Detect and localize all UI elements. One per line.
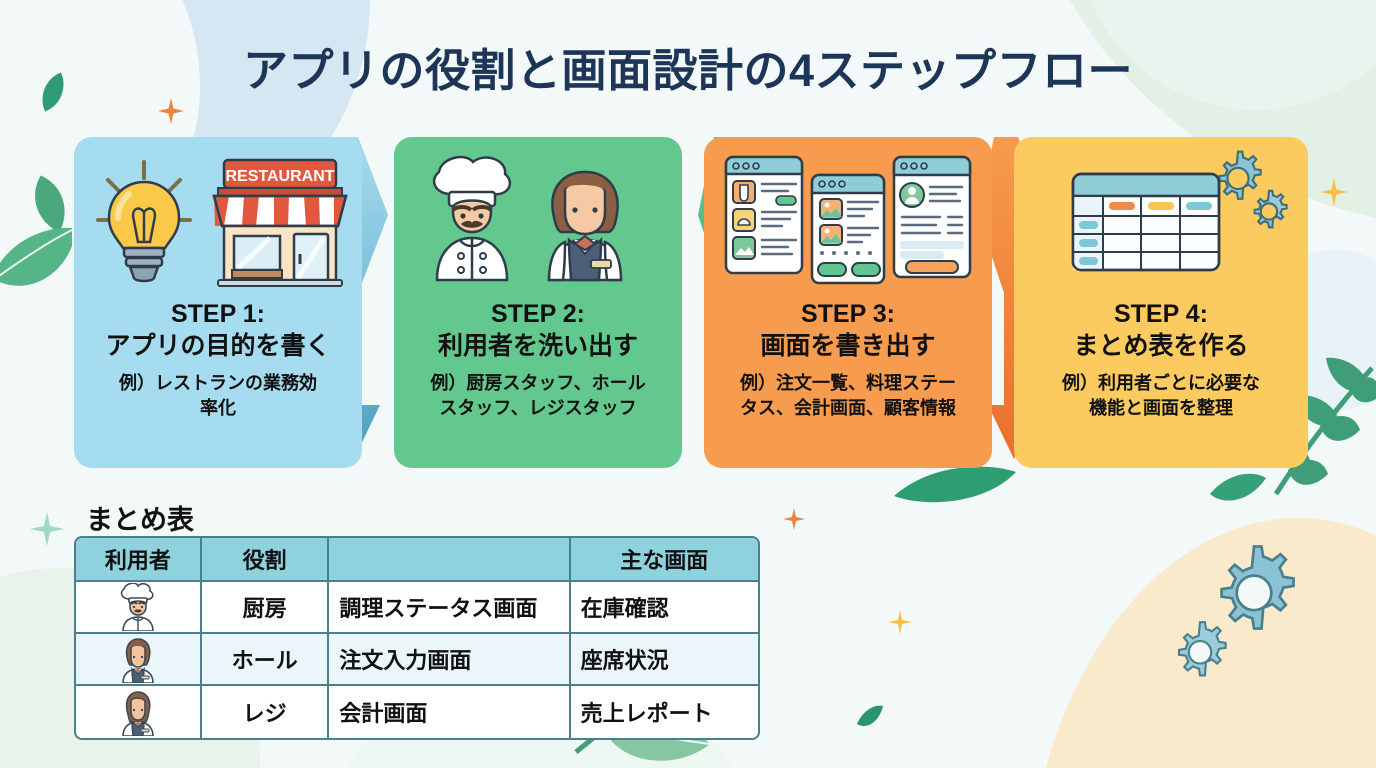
step-4-heading: STEP 4: bbox=[1020, 299, 1302, 329]
table-cell-avatar bbox=[76, 582, 202, 634]
table-cell-function: 注文入力画面 bbox=[329, 634, 570, 686]
summary-table-body: 厨房 調理ステータス画面 在庫確認 bbox=[76, 582, 758, 738]
step-2-title: 利用者を洗い出す bbox=[400, 331, 676, 362]
table-cell-screen: 在庫確認 bbox=[571, 582, 758, 634]
wireframe-screen-right bbox=[894, 157, 970, 277]
step-2-heading: STEP 2: bbox=[400, 299, 676, 329]
step-3-example: 例）注文一覧、料理ステー タス、会計画面、顧客情報 bbox=[710, 371, 986, 420]
step-4-text: STEP 4: まとめ表を作る 例）利用者ごとに必要な 機能と画面を整理 bbox=[1020, 299, 1302, 420]
step-2-example: 例）厨房スタッフ、ホール スタッフ、レジスタッフ bbox=[400, 371, 676, 420]
table-header-user: 利用者 bbox=[76, 538, 202, 582]
leaf-icon bbox=[855, 702, 885, 737]
table-row[interactable]: レジ 会計画面 売上レポート bbox=[76, 686, 758, 738]
wireframe-screen-center bbox=[812, 175, 884, 283]
step-3-example-line-1: 例）注文一覧、料理ステー bbox=[710, 371, 986, 395]
cashier-avatar bbox=[116, 688, 160, 736]
summary-table-head: 利用者 役割 主な画面 bbox=[76, 538, 758, 582]
hall-staff-avatar bbox=[116, 635, 160, 683]
step-4-example-line-2: 機能と画面を整理 bbox=[1020, 396, 1302, 420]
chef-icon bbox=[434, 157, 510, 280]
step-card-1[interactable]: RESTAURANT bbox=[74, 137, 362, 468]
leaf-icon bbox=[890, 462, 1020, 511]
table-cell-function: 会計画面 bbox=[329, 686, 570, 738]
step-1-example: 例）レストランの業務効 率化 bbox=[80, 371, 356, 420]
step-2-example-line-2: スタッフ、レジスタッフ bbox=[400, 396, 676, 420]
step-3-title: 画面を書き出す bbox=[710, 331, 986, 362]
waitstaff-icon bbox=[549, 172, 621, 280]
gear-icon bbox=[1165, 618, 1235, 693]
wireframe-screen-left bbox=[726, 157, 802, 273]
step-1-illustration: RESTAURANT bbox=[74, 145, 362, 295]
step-4-example-line-1: 例）利用者ごとに必要な bbox=[1020, 371, 1302, 395]
table-header-function bbox=[329, 538, 570, 582]
step-2-text: STEP 2: 利用者を洗い出す 例）厨房スタッフ、ホール スタッフ、レジスタッ… bbox=[400, 299, 676, 420]
table-row[interactable]: 厨房 調理ステータス画面 在庫確認 bbox=[76, 582, 758, 634]
step-3-text: STEP 3: 画面を書き出す 例）注文一覧、料理ステー タス、会計画面、顧客情… bbox=[710, 299, 986, 420]
sparkle-icon bbox=[1320, 178, 1348, 206]
lightbulb-icon bbox=[98, 162, 190, 281]
step-card-2[interactable]: STEP 2: 利用者を洗い出す 例）厨房スタッフ、ホール スタッフ、レジスタッ… bbox=[394, 137, 682, 468]
leaf-icon bbox=[1208, 468, 1268, 513]
table-header-role: 役割 bbox=[202, 538, 330, 582]
step-1-example-line-1: 例）レストランの業務効 bbox=[80, 371, 356, 395]
table-cell-function: 調理ステータス画面 bbox=[329, 582, 570, 634]
leaf-icon bbox=[28, 172, 72, 241]
step-4-title: まとめ表を作る bbox=[1020, 331, 1302, 362]
summary-table-heading: まとめ表 bbox=[86, 498, 194, 537]
restaurant-building-icon: RESTAURANT bbox=[214, 160, 346, 286]
table-cell-role: 厨房 bbox=[202, 582, 330, 634]
page-title: アプリの役割と画面設計の4ステップフロー bbox=[0, 34, 1376, 99]
chef-avatar bbox=[116, 583, 160, 631]
sparkle-icon bbox=[158, 98, 184, 124]
step-1-title: アプリの目的を書く bbox=[80, 331, 356, 362]
table-cell-screen: 売上レポート bbox=[571, 686, 758, 738]
gear-icon bbox=[1255, 191, 1287, 227]
step-3-example-line-2: タス、会計画面、顧客情報 bbox=[710, 396, 986, 420]
table-header-row: 利用者 役割 主な画面 bbox=[76, 538, 758, 582]
sparkle-icon bbox=[888, 610, 912, 634]
sparkle-icon bbox=[783, 508, 805, 530]
summary-table[interactable]: 利用者 役割 主な画面 bbox=[74, 536, 760, 740]
step-3-heading: STEP 3: bbox=[710, 299, 986, 329]
step-3-illustration bbox=[704, 145, 992, 295]
leaf-icon bbox=[0, 222, 76, 305]
gear-icon bbox=[1219, 152, 1260, 199]
step-4-example: 例）利用者ごとに必要な 機能と画面を整理 bbox=[1020, 371, 1302, 420]
table-row[interactable]: ホール 注文入力画面 座席状況 bbox=[76, 634, 758, 686]
step-card-3[interactable]: STEP 3: 画面を書き出す 例）注文一覧、料理ステー タス、会計画面、顧客情… bbox=[704, 137, 992, 468]
table-cell-role: レジ bbox=[202, 686, 330, 738]
background-blob-bottom-right bbox=[1026, 518, 1376, 768]
step-2-example-line-1: 例）厨房スタッフ、ホール bbox=[400, 371, 676, 395]
table-cell-avatar bbox=[76, 686, 202, 738]
step-4-illustration bbox=[1014, 145, 1308, 295]
step-2-illustration bbox=[394, 145, 682, 295]
step-1-heading: STEP 1: bbox=[80, 299, 356, 329]
sparkle-icon bbox=[30, 512, 64, 546]
table-graphic bbox=[1073, 174, 1219, 270]
restaurant-sign-text: RESTAURANT bbox=[225, 168, 334, 185]
table-cell-avatar bbox=[76, 634, 202, 686]
table-cell-role: ホール bbox=[202, 634, 330, 686]
gear-icon bbox=[1200, 540, 1308, 653]
table-cell-screen: 座席状況 bbox=[571, 634, 758, 686]
step-1-example-line-2: 率化 bbox=[80, 396, 356, 420]
step-1-text: STEP 1: アプリの目的を書く 例）レストランの業務効 率化 bbox=[80, 299, 356, 420]
table-header-screen: 主な画面 bbox=[571, 538, 758, 582]
infographic-canvas: アプリの役割と画面設計の4ステップフロー bbox=[0, 0, 1376, 768]
step-card-4[interactable]: STEP 4: まとめ表を作る 例）利用者ごとに必要な 機能と画面を整理 bbox=[1014, 137, 1308, 468]
